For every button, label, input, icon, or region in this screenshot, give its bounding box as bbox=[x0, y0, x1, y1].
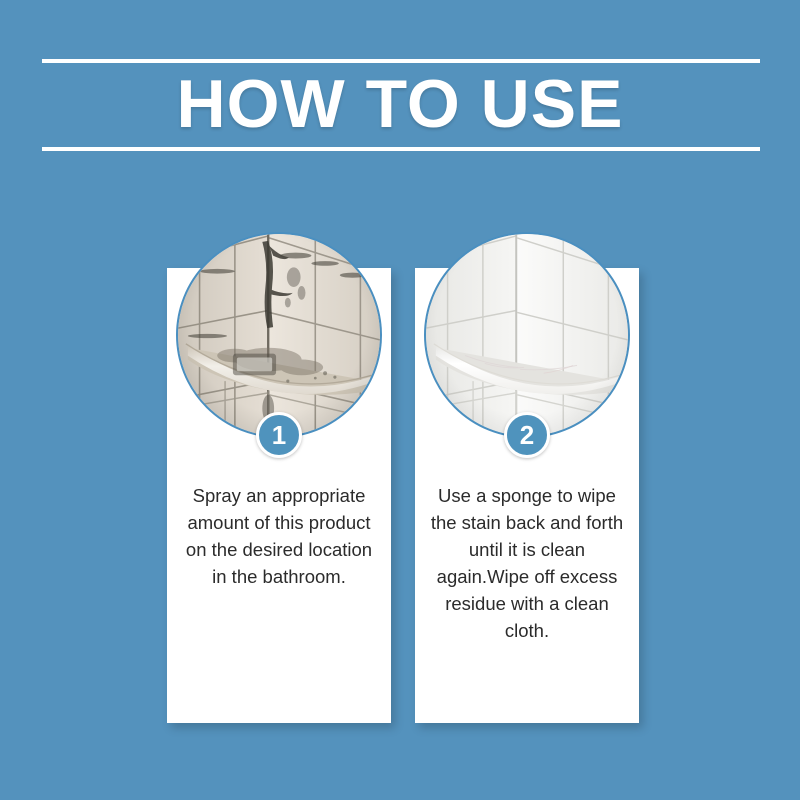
step-caption-1: Spray an appropriate amount of this prod… bbox=[179, 482, 379, 590]
step-1-photo-frame bbox=[176, 232, 382, 438]
step-number-badge-1: 1 bbox=[256, 412, 302, 458]
clean-bathroom-corner-shelf-image bbox=[426, 234, 628, 436]
step-caption-2: Use a sponge to wipe the stain back and … bbox=[427, 482, 627, 644]
step-card-2: 2 Use a sponge to wipe the stain back an… bbox=[415, 268, 639, 723]
step-number-badge-2: 2 bbox=[504, 412, 550, 458]
dirty-bathroom-corner-shelf-image bbox=[178, 234, 380, 436]
step-card-1: 1 Spray an appropriate amount of this pr… bbox=[167, 268, 391, 723]
steps-container: 1 Spray an appropriate amount of this pr… bbox=[0, 0, 800, 800]
step-2-photo-frame bbox=[424, 232, 630, 438]
